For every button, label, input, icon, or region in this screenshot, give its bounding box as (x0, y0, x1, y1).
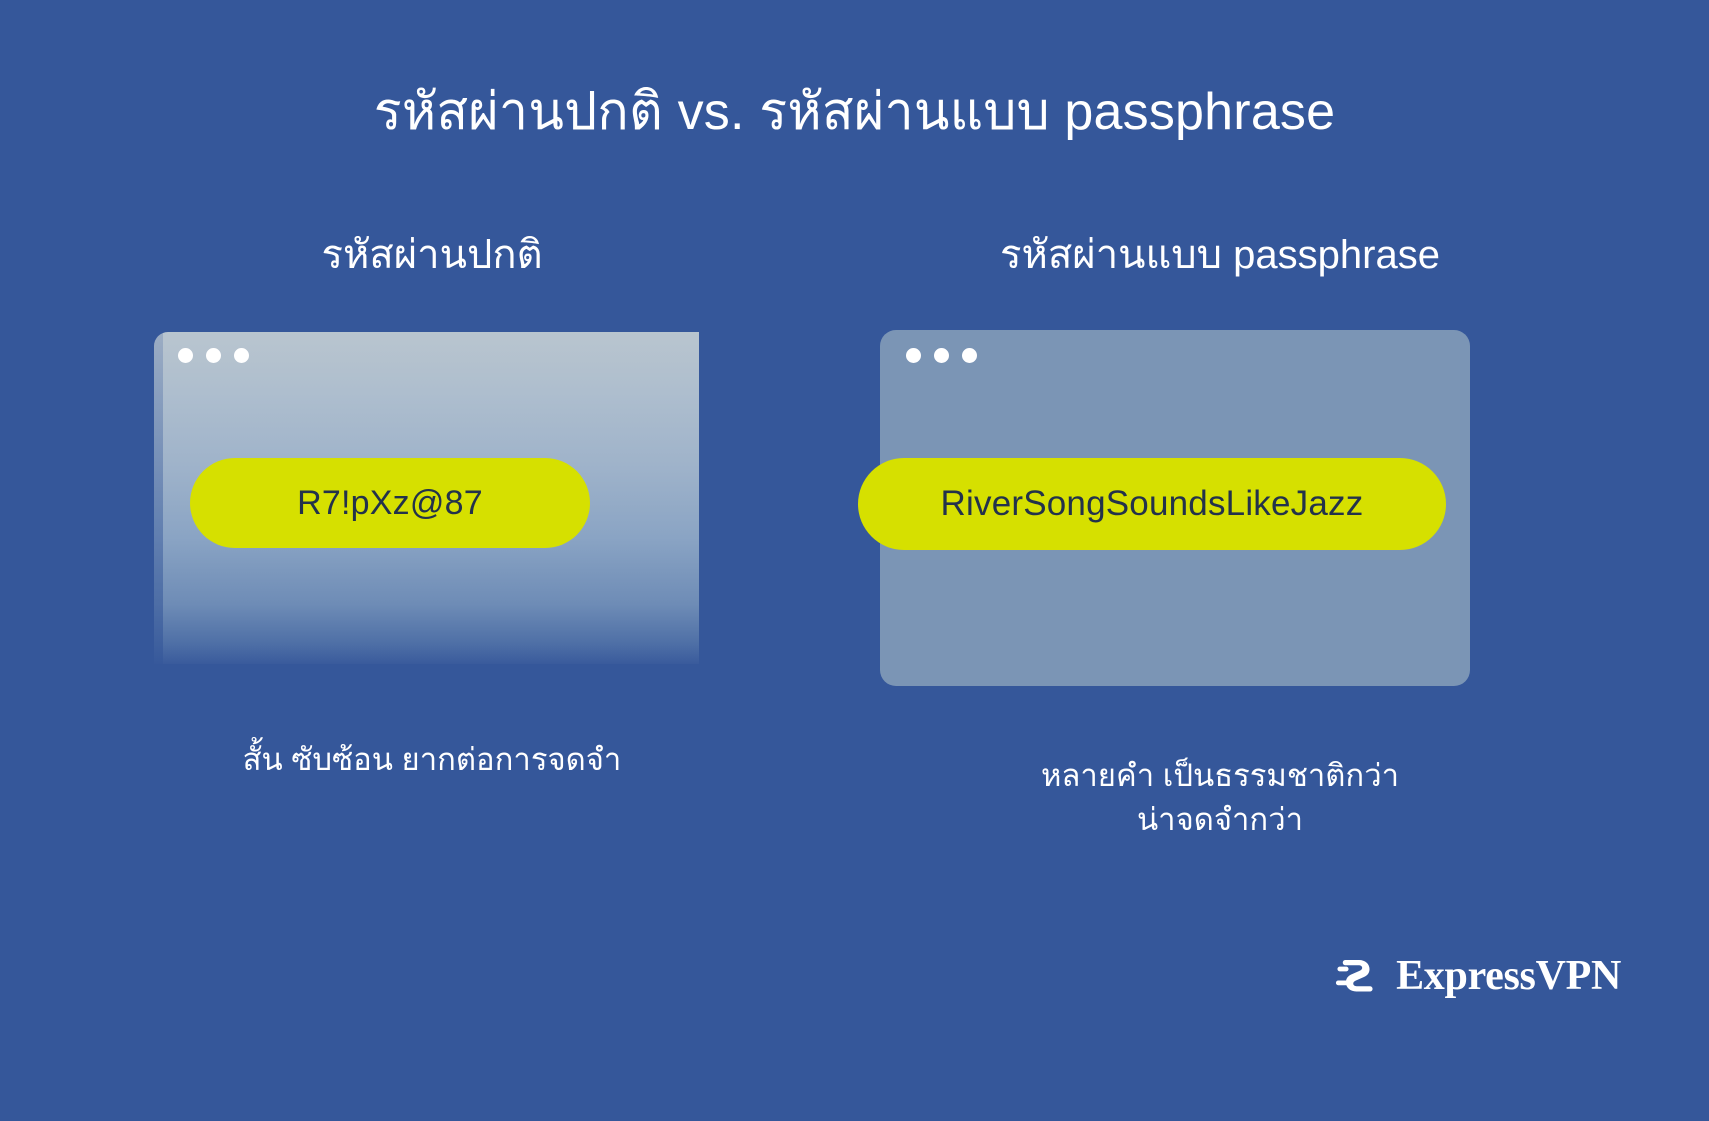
caption-regular-password: สั้น ซับซ้อน ยากต่อการจดจำ (112, 738, 752, 782)
infographic-canvas: รหัสผ่านปกติ vs. รหัสผ่านแบบ passphrase … (0, 0, 1709, 1121)
caption-line: หลายคำ เป็นธรรมชาติกว่า (840, 754, 1600, 798)
window-dot-icon (906, 348, 921, 363)
window-dot-icon (206, 348, 221, 363)
column-heading-passphrase: รหัสผ่านแบบ passphrase (840, 230, 1600, 280)
brand-logo: ExpressVPN (1327, 949, 1621, 1003)
window-chrome-dots (178, 348, 249, 363)
comparison-column-regular-password: รหัสผ่านปกติ R7!pXz@87 สั้น ซับซ้อน ยากต… (112, 230, 752, 782)
window-mock-regular-password: R7!pXz@87 (112, 332, 752, 682)
window-mock-passphrase: RiverSongSoundsLikeJazz (840, 330, 1600, 702)
brand-name: ExpressVPN (1396, 952, 1621, 1000)
password-value-passphrase: RiverSongSoundsLikeJazz (941, 484, 1364, 524)
window-dot-icon (178, 348, 193, 363)
window-dot-icon (934, 348, 949, 363)
window-dot-icon (234, 348, 249, 363)
window-dot-icon (962, 348, 977, 363)
column-heading-regular-password: รหัสผ่านปกติ (112, 230, 752, 280)
caption-line: น่าจดจำกว่า (840, 798, 1600, 842)
window-chrome-dots (906, 348, 977, 363)
expressvpn-logo-icon (1327, 949, 1381, 1003)
caption-line: สั้น ซับซ้อน ยากต่อการจดจำ (112, 738, 752, 782)
password-pill-passphrase: RiverSongSoundsLikeJazz (858, 458, 1446, 550)
caption-passphrase: หลายคำ เป็นธรรมชาติกว่า น่าจดจำกว่า (840, 754, 1600, 842)
password-value-regular: R7!pXz@87 (297, 484, 483, 523)
page-title: รหัสผ่านปกติ vs. รหัสผ่านแบบ passphrase (0, 82, 1709, 143)
comparison-column-passphrase: รหัสผ่านแบบ passphrase RiverSongSoundsLi… (840, 230, 1600, 842)
password-pill-regular: R7!pXz@87 (190, 458, 590, 548)
